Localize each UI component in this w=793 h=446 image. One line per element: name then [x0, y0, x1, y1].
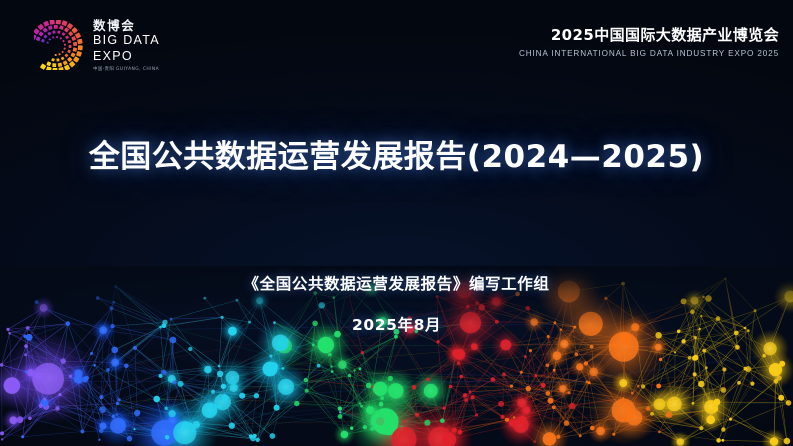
authors-line: 《全国公共数据运营发展报告》编写工作组	[0, 272, 793, 294]
expo-title-cn: 2025中国国际大数据产业博览会	[519, 26, 779, 45]
logo-location: 中国·贵阳 GUIYANG, CHINA	[93, 66, 160, 72]
logo-cn-name: 数博会	[93, 19, 160, 33]
logo-line-expo: EXPO	[93, 49, 160, 64]
logo-wordmark: 数博会 BIG DATA EXPO 中国·贵阳 GUIYANG, CHINA	[93, 17, 160, 72]
big-data-expo-spiral-logo-icon	[34, 20, 84, 70]
expo-title-en: CHINA INTERNATIONAL BIG DATA INDUSTRY EX…	[519, 49, 779, 59]
page-title: 全国公共数据运营发展报告(2024—2025)	[0, 131, 793, 176]
slide-root: 数博会 BIG DATA EXPO 中国·贵阳 GUIYANG, CHINA 2…	[0, 0, 793, 446]
date-line: 2025年8月	[0, 313, 793, 335]
expo-title-block: 2025中国国际大数据产业博览会 CHINA INTERNATIONAL BIG…	[519, 26, 779, 59]
logo-line-big-data: BIG DATA	[93, 33, 160, 49]
logo-block: 数博会 BIG DATA EXPO 中国·贵阳 GUIYANG, CHINA	[34, 17, 160, 72]
header: 数博会 BIG DATA EXPO 中国·贵阳 GUIYANG, CHINA 2…	[0, 0, 793, 86]
